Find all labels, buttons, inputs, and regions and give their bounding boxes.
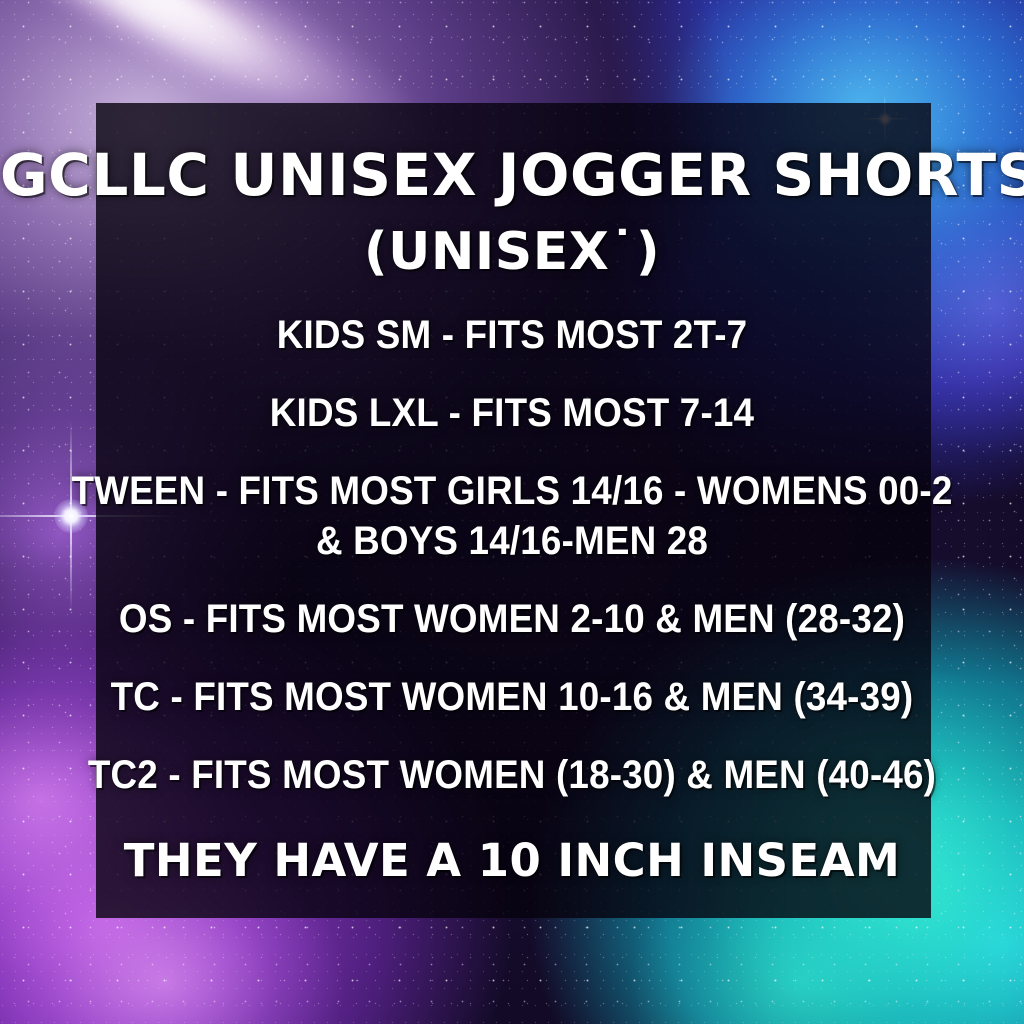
page-subtitle: (UNISEX˙) (0, 226, 1024, 278)
galaxy-sizing-poster: GCLLC UNISEX JOGGER SHORTS (UNISEX˙) KID… (0, 0, 1024, 1024)
size-line-tween-part2: & BOYS 14/16-MEN 28 (41, 520, 983, 562)
size-line-tween-part1: TWEEN - FITS MOST GIRLS 14/16 - WOMENS 0… (41, 470, 983, 512)
inseam-note: THEY HAVE A 10 INCH INSEAM (0, 838, 1024, 883)
poster-content: GCLLC UNISEX JOGGER SHORTS (UNISEX˙) KID… (0, 0, 1024, 1024)
size-line-tc2: TC2 - FITS MOST WOMEN (18-30) & MEN (40-… (41, 754, 983, 796)
size-line-kids-sm: KIDS SM - FITS MOST 2T-7 (41, 314, 983, 356)
size-line-os: OS - FITS MOST WOMEN 2-10 & MEN (28-32) (41, 598, 983, 640)
size-line-tc: TC - FITS MOST WOMEN 10-16 & MEN (34-39) (41, 676, 983, 718)
size-chart-list: KIDS SM - FITS MOST 2T-7 KIDS LXL - FITS… (0, 314, 1024, 832)
size-line-kids-lxl: KIDS LXL - FITS MOST 7-14 (41, 392, 983, 434)
page-title: GCLLC UNISEX JOGGER SHORTS (0, 146, 1024, 204)
